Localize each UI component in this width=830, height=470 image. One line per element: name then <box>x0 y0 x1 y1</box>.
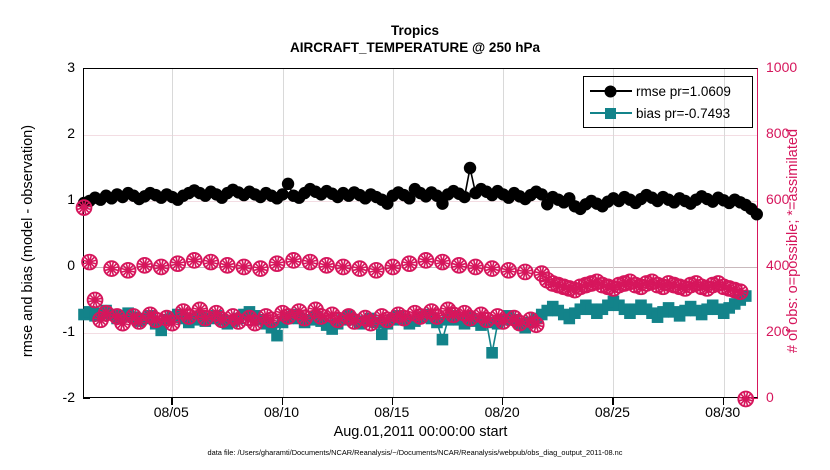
x-tick-label: 08/10 <box>247 404 317 420</box>
legend: rmse pr=1.0609 bias pr=-0.7493 <box>583 76 753 128</box>
x-tick-label: 08/15 <box>357 404 427 420</box>
x-tick-mark <box>502 398 503 405</box>
y-tick-label-left: 0 <box>29 257 75 273</box>
marker-square <box>486 347 498 359</box>
marker-circle <box>282 178 294 190</box>
y-tick-label-left: -1 <box>29 323 75 339</box>
x-tick-label: 08/05 <box>136 404 206 420</box>
x-tick-mark <box>612 398 613 405</box>
series-circle-asterisk <box>77 200 754 406</box>
y-tick-label-right: 600 <box>766 191 826 207</box>
marker-circle <box>276 188 288 200</box>
y-tick-label-right: 1000 <box>766 59 826 75</box>
marker-circle <box>464 162 476 174</box>
data-file-note: data file: /Users/gharamti/Documents/NCA… <box>0 448 830 457</box>
y-tick-label-right: 0 <box>766 389 826 405</box>
y-tick-label-left: 1 <box>29 191 75 207</box>
legend-item-rmse[interactable]: rmse pr=1.0609 <box>590 80 731 102</box>
y-tick-label-left: 2 <box>29 125 75 141</box>
legend-swatch-rmse <box>590 83 632 99</box>
y-tick-label-right: 400 <box>766 257 826 273</box>
x-tick-label: 08/20 <box>467 404 537 420</box>
marker-circle <box>458 191 470 203</box>
legend-swatch-bias <box>590 105 632 121</box>
legend-label-rmse: rmse pr=1.0609 <box>636 84 731 99</box>
y-tick-label-left: 3 <box>29 59 75 75</box>
marker-square <box>437 334 449 346</box>
y-tick-label-right: 800 <box>766 125 826 141</box>
chart-page: Tropics AIRCRAFT_TEMPERATURE @ 250 hPa r… <box>0 0 830 470</box>
circle-icon <box>603 85 618 98</box>
legend-label-bias: bias pr=-0.7493 <box>636 106 730 121</box>
marker-circle <box>751 208 763 220</box>
x-tick-mark <box>392 398 393 405</box>
legend-item-bias[interactable]: bias pr=-0.7493 <box>590 102 730 124</box>
y-tick-label-left: -2 <box>29 389 75 405</box>
x-tick-mark <box>171 398 172 405</box>
marker-square <box>376 329 388 341</box>
y-tick-label-right: 200 <box>766 323 826 339</box>
square-icon <box>603 107 618 120</box>
x-tick-mark <box>282 398 283 405</box>
x-tick-label: 08/25 <box>577 404 647 420</box>
x-tick-mark <box>723 398 724 405</box>
series-circle <box>78 162 763 221</box>
marker-square <box>271 330 283 342</box>
